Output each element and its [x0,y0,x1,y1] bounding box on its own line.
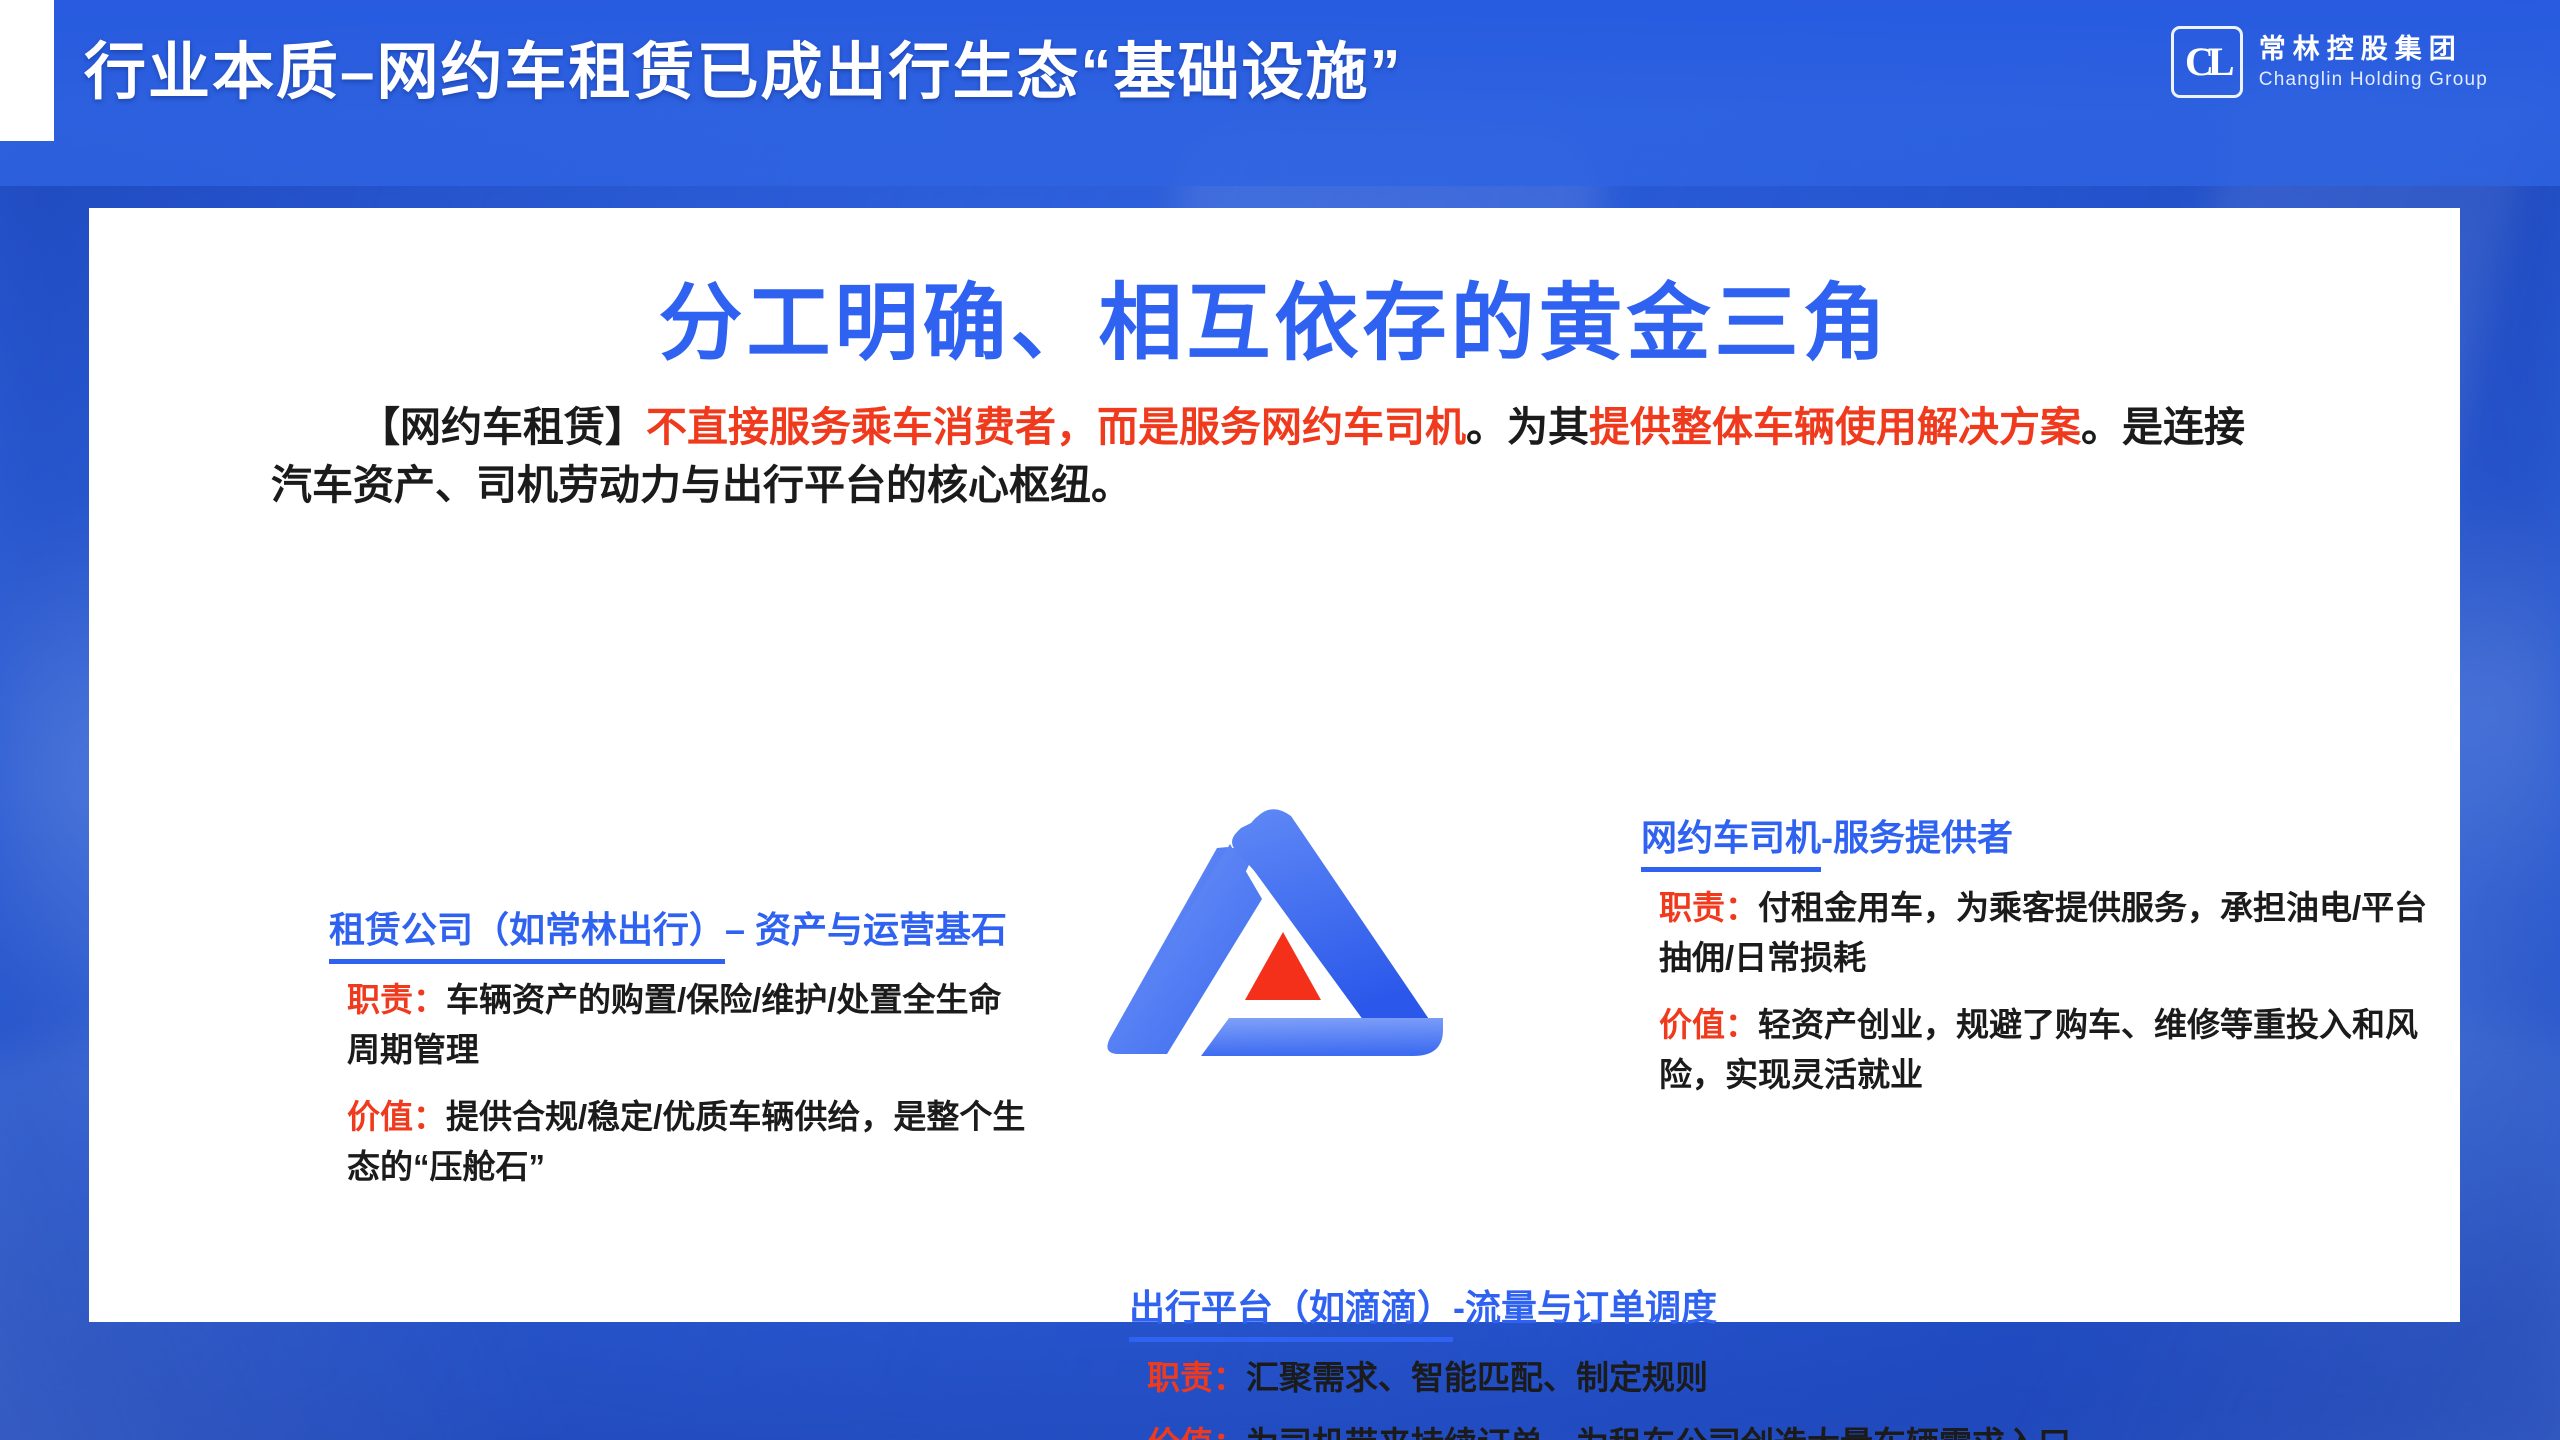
block-platform-heading-rest: -流量与订单调度 [1453,1287,1717,1328]
block-driver-heading-underlined: 网约车司机 [1641,817,1821,872]
block-platform-duty-text: 汇聚需求、智能匹配、制定规则 [1246,1359,1708,1396]
block-platform-duty-label: 职责： [1147,1359,1246,1396]
block-driver: 网约车司机-服务提供者 职责：付租金用车，为乘客提供服务，承担油电/平台抽佣/日… [1641,816,2451,1100]
block-leasing-heading-underlined: 租赁公司（如常林出行） [329,909,725,964]
changlin-monogram-icon: CL [2171,26,2243,98]
block-leasing-duty: 职责：车辆资产的购置/保险/维护/处置全生命周期管理 [347,975,1029,1075]
block-driver-value: 价值：轻资产创业，规避了购车、维修等重投入和风险，实现灵活就业 [1659,1000,2451,1100]
block-platform-value: 价值：为司机带来持续订单，为租车公司创造大量车辆需求入口 [1147,1419,2389,1440]
intro-seg-1: 【网约车租赁】 [359,404,646,450]
page-title: 行业本质–网约车租赁已成出行生态“基础设施” [84,18,1402,114]
triangle-logo-svg [1097,804,1457,1094]
block-driver-heading: 网约车司机-服务提供者 [1641,816,2013,859]
brand-name-en: Changlin Holding Group [2259,70,2488,89]
block-leasing-duty-label: 职责： [347,981,446,1018]
intro-seg-2-highlight: 不直接服务乘车消费者，而是服务网约车司机 [646,404,1466,450]
block-driver-value-label: 价值： [1659,1006,1758,1043]
block-driver-duty: 职责：付租金用车，为乘客提供服务，承担油电/平台抽佣/日常损耗 [1659,883,2451,983]
brand-logo: CL 常林控股集团 Changlin Holding Group [2171,26,2488,98]
block-leasing-heading-rest: – 资产与运营基石 [725,909,1007,950]
block-driver-duty-text: 付租金用车，为乘客提供服务，承担油电/平台抽佣/日常损耗 [1659,889,2427,976]
block-driver-heading-main: 网约车司机 [1641,817,1821,858]
block-driver-value-text: 轻资产创业，规避了购车、维修等重投入和风险，实现灵活就业 [1659,1006,2418,1093]
intro-seg-3: 。为其 [1466,404,1589,450]
intro-seg-4-highlight: 提供整体车辆使用解决方案 [1589,404,2081,450]
block-platform-duty: 职责：汇聚需求、智能匹配、制定规则 [1147,1353,2389,1403]
block-leasing-company: 租赁公司（如常林出行）– 资产与运营基石 职责：车辆资产的购置/保险/维护/处置… [329,908,1029,1192]
intro-paragraph: 【网约车租赁】不直接服务乘车消费者，而是服务网约车司机。为其提供整体车辆使用解决… [271,398,2281,514]
block-platform-body: 职责：汇聚需求、智能匹配、制定规则 价值：为司机带来持续订单，为租车公司创造大量… [1129,1353,2389,1440]
block-leasing-body: 职责：车辆资产的购置/保险/维护/处置全生命周期管理 价值：提供合规/稳定/优质… [329,975,1029,1192]
block-platform-value-text: 为司机带来持续订单，为租车公司创造大量车辆需求入口 [1246,1425,2071,1440]
block-leasing-heading: 租赁公司（如常林出行）– 资产与运营基石 [329,908,1007,951]
block-driver-heading-rest: -服务提供者 [1821,817,2013,858]
block-platform-heading-underlined: 出行平台（如滴滴） [1129,1287,1453,1342]
block-leasing-duty-text: 车辆资产的购置/保险/维护/处置全生命周期管理 [347,981,1002,1068]
block-driver-duty-label: 职责： [1659,889,1758,926]
brand-text: 常林控股集团 Changlin Holding Group [2259,36,2488,89]
header-corner-notch [0,0,54,141]
content-card: 分工明确、相互依存的黄金三角 【网约车租赁】不直接服务乘车消费者，而是服务网约车… [89,208,2460,1322]
card-title: 分工明确、相互依存的黄金三角 [89,256,2460,377]
block-leasing-heading-main: 租赁公司（如常林出行） [329,909,725,950]
block-platform-value-label: 价值： [1147,1425,1246,1440]
golden-triangle-logo-icon [1097,804,1457,1094]
block-leasing-value-label: 价值： [347,1098,446,1135]
brand-name-cn: 常林控股集团 [2259,36,2488,63]
block-driver-body: 职责：付租金用车，为乘客提供服务，承担油电/平台抽佣/日常损耗 价值：轻资产创业… [1641,883,2451,1100]
block-platform-heading-main: 出行平台（如滴滴） [1129,1287,1453,1328]
block-leasing-value-text: 提供合规/稳定/优质车辆供给，是整个生态的“压舱石” [347,1098,1025,1185]
monogram-letters: CL [2174,29,2240,95]
block-platform: 出行平台（如滴滴）-流量与订单调度 职责：汇聚需求、智能匹配、制定规则 价值：为… [1129,1286,2389,1440]
block-leasing-value: 价值：提供合规/稳定/优质车辆供给，是整个生态的“压舱石” [347,1092,1029,1192]
block-platform-heading: 出行平台（如滴滴）-流量与订单调度 [1129,1286,1717,1329]
slide-root: 行业本质–网约车租赁已成出行生态“基础设施” CL 常林控股集团 Changli… [0,0,2560,1440]
